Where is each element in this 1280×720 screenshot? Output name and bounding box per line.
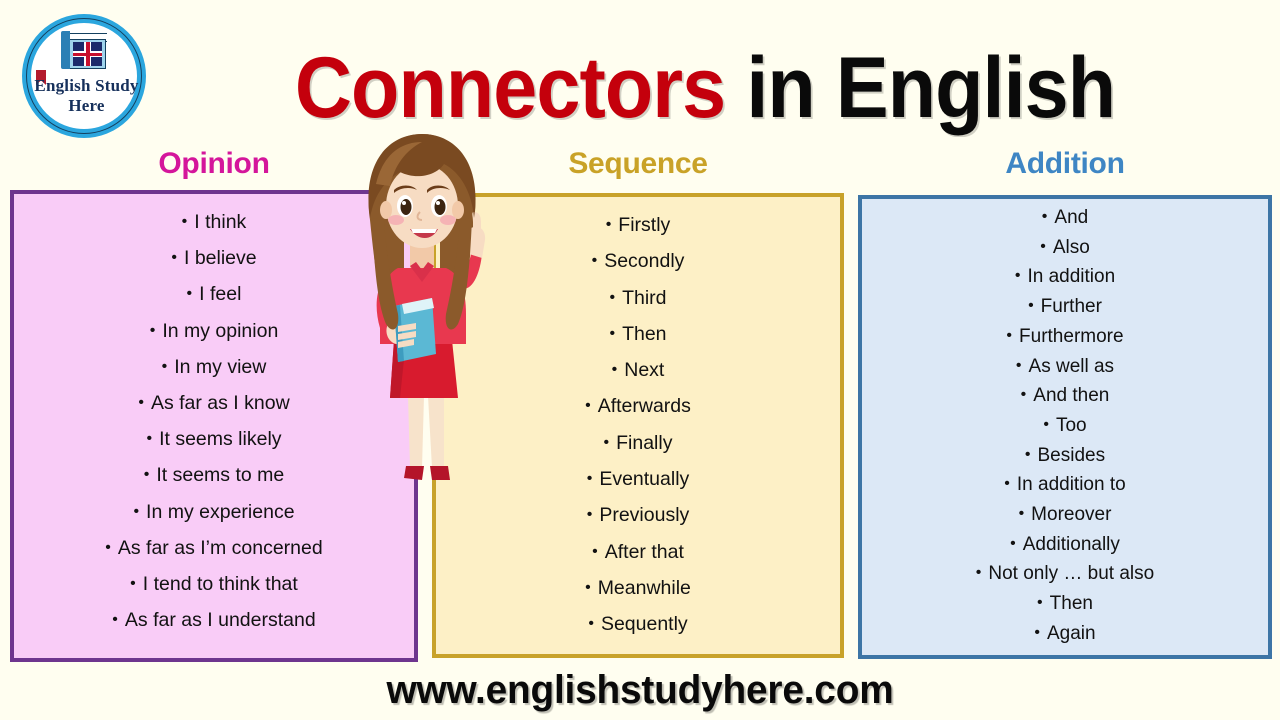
page-title: Connectors in English	[217, 40, 1192, 136]
column-box-sequence: •Firstly•Secondly•Third•Then•Next•Afterw…	[432, 193, 844, 658]
list-item-label: Finally	[616, 432, 672, 454]
list-item: •Additionally	[862, 530, 1268, 560]
bullet-icon: •	[138, 394, 144, 411]
list-item: •In my view	[14, 349, 414, 385]
uk-flag-icon	[73, 42, 102, 66]
bullet-icon: •	[604, 434, 610, 451]
connector-list-sequence: •Firstly•Secondly•Third•Then•Next•Afterw…	[436, 197, 840, 643]
list-item: •Again	[862, 619, 1268, 649]
bullet-icon: •	[162, 358, 168, 375]
list-item-label: Besides	[1038, 445, 1106, 466]
bullet-icon: •	[1043, 416, 1049, 433]
connector-list-opinion: •I think•I believe•I feel•In my opinion•…	[14, 194, 414, 638]
bullet-icon: •	[150, 322, 156, 339]
list-item-label: Secondly	[604, 250, 684, 272]
list-item-label: And	[1054, 207, 1088, 228]
list-item: •It seems likely	[14, 421, 414, 457]
list-item: •Third	[436, 280, 840, 316]
bullet-icon: •	[1031, 654, 1037, 659]
bullet-icon: •	[1004, 475, 1010, 492]
list-item-label: Meanwhile	[598, 577, 691, 599]
list-item: •Further	[862, 292, 1268, 322]
list-item-label: I think	[194, 211, 246, 233]
list-item-label: Then	[622, 323, 666, 345]
nose	[418, 212, 422, 220]
bullet-icon: •	[1028, 297, 1034, 314]
list-item-label: Not only … but also	[988, 563, 1154, 584]
connector-list-addition: •And•Also•In addition•Further•Furthermor…	[862, 199, 1268, 659]
bullet-icon: •	[1019, 505, 1025, 522]
bullet-icon: •	[171, 249, 177, 266]
list-item-label: Also	[1053, 237, 1090, 258]
bullet-icon: •	[1015, 267, 1021, 284]
list-item-label: Too	[1056, 415, 1087, 436]
bullet-icon: •	[105, 539, 111, 556]
logo-text: English Study Here	[14, 76, 159, 116]
bullet-icon: •	[592, 252, 598, 269]
title-part-connectors: Connectors	[295, 40, 725, 136]
bullet-icon: •	[1034, 624, 1040, 641]
list-item-label: And then	[1033, 385, 1109, 406]
bullet-icon: •	[1006, 327, 1012, 344]
bullet-icon: •	[133, 503, 139, 520]
list-item-label: Then	[1050, 593, 1093, 614]
bullet-icon: •	[1021, 386, 1027, 403]
list-item: •Firstly	[436, 207, 840, 243]
logo-text-line2: Here	[14, 96, 159, 116]
bullet-icon: •	[976, 564, 982, 581]
bullet-icon: •	[1042, 208, 1048, 225]
list-item: •Eventually	[436, 461, 840, 497]
list-item: •I think	[14, 204, 414, 240]
bullet-icon: •	[612, 361, 618, 378]
list-item: •Moreover	[862, 500, 1268, 530]
list-item-label: Firstly	[618, 214, 670, 236]
list-item-label: In my view	[174, 356, 266, 378]
list-item: •In addition	[862, 262, 1268, 292]
bullet-icon: •	[606, 216, 612, 233]
list-item-label: Furthermore	[1019, 326, 1124, 347]
website-footer: www.englishstudyhere.com	[19, 663, 1261, 717]
list-item: •In addition to	[862, 470, 1268, 500]
list-item-label: In my opinion	[162, 320, 278, 342]
bullet-icon: •	[146, 430, 152, 447]
list-item-label: It seems likely	[159, 428, 281, 450]
bullet-icon: •	[609, 289, 615, 306]
list-item-label: In my experience	[146, 501, 295, 523]
list-item: •Too	[862, 411, 1268, 441]
bullet-icon: •	[587, 506, 593, 523]
bullet-icon: •	[187, 285, 193, 302]
bullet-icon: •	[1025, 446, 1031, 463]
list-item-label: Sequently	[601, 613, 688, 635]
site-logo: English Study Here	[14, 14, 159, 146]
list-item: •In my opinion	[14, 313, 414, 349]
book-spine	[61, 31, 70, 69]
list-item-label: In addition to	[1017, 474, 1126, 495]
list-item: •Sequently	[436, 606, 840, 642]
list-item-label: Moreover	[1031, 504, 1111, 525]
bullet-icon: •	[144, 466, 150, 483]
list-item: •And then	[862, 381, 1268, 411]
list-item: •After that	[436, 534, 840, 570]
list-item-label: Afterwards	[598, 395, 691, 417]
bullet-icon: •	[1010, 535, 1016, 552]
bullet-icon: •	[1037, 594, 1043, 611]
column-header-opinion: Opinion	[10, 145, 418, 183]
list-item: •It seems to me	[14, 457, 414, 493]
flag-cross-vertical	[86, 42, 90, 66]
list-item: •Also	[862, 233, 1268, 263]
list-item: •Finally	[436, 425, 840, 461]
bullet-icon: •	[587, 470, 593, 487]
list-item: •Not only … but also	[862, 559, 1268, 589]
list-item: •I tend to think that	[14, 566, 414, 602]
list-item-label: As well as	[1029, 356, 1115, 377]
list-item-label: I tend to think that	[143, 573, 298, 595]
list-item: •As far as I know	[14, 385, 414, 421]
list-item: •Afterwards	[436, 388, 840, 424]
list-item-label: I believe	[184, 247, 257, 269]
list-item-label: In addition	[1027, 266, 1115, 287]
list-item: •Furthermore	[862, 322, 1268, 352]
logo-text-line1: English Study	[14, 76, 159, 96]
list-item-label: Next	[624, 359, 664, 381]
list-item: •Secondly	[436, 243, 840, 279]
list-item-label: As far as I know	[151, 392, 290, 414]
list-item-label: It seems to me	[156, 464, 284, 486]
bullet-icon: •	[130, 575, 136, 592]
bullet-icon: •	[585, 579, 591, 596]
bullet-icon: •	[182, 213, 188, 230]
list-item: •Next	[436, 352, 840, 388]
bullet-icon: •	[112, 611, 118, 628]
list-item-label: Previously	[599, 504, 689, 526]
list-item: •As far as I’m concerned	[14, 530, 414, 566]
bullet-icon: •	[1040, 238, 1046, 255]
list-item-label: Again	[1047, 623, 1096, 644]
list-item: •And	[862, 203, 1268, 233]
column-header-addition: Addition	[858, 145, 1272, 183]
list-item-label: Finally	[1044, 653, 1099, 659]
list-item: •Besides	[862, 441, 1268, 471]
bullet-icon: •	[592, 543, 598, 560]
list-item: •In my experience	[14, 494, 414, 530]
list-item: •Meanwhile	[436, 570, 840, 606]
list-item: •Finally	[862, 649, 1268, 659]
list-item-label: As far as I understand	[125, 609, 316, 631]
list-item-label: I feel	[199, 283, 241, 305]
list-item: •Then	[436, 316, 840, 352]
list-item-label: As far as I’m concerned	[118, 537, 323, 559]
list-item-label: After that	[605, 541, 684, 563]
eyebrow-right	[427, 186, 450, 194]
book-icon	[61, 31, 107, 69]
list-item: •Then	[862, 589, 1268, 619]
list-item-label: Further	[1041, 296, 1102, 317]
bullet-icon: •	[585, 397, 591, 414]
list-item: •Previously	[436, 497, 840, 533]
column-box-addition: •And•Also•In addition•Further•Furthermor…	[858, 195, 1272, 659]
list-item-label: Third	[622, 287, 666, 309]
list-item: •I feel	[14, 276, 414, 312]
bullet-icon: •	[1016, 357, 1022, 374]
list-item-label: Eventually	[599, 468, 689, 490]
bullet-icon: •	[588, 615, 594, 632]
list-item: •As well as	[862, 352, 1268, 382]
column-header-sequence: Sequence	[432, 145, 844, 183]
bullet-icon: •	[609, 325, 615, 342]
list-item: •As far as I understand	[14, 602, 414, 638]
column-box-opinion: •I think•I believe•I feel•In my opinion•…	[10, 190, 418, 662]
list-item: •I believe	[14, 240, 414, 276]
list-item-label: Additionally	[1023, 534, 1120, 555]
title-part-in-english: in English	[725, 40, 1115, 136]
